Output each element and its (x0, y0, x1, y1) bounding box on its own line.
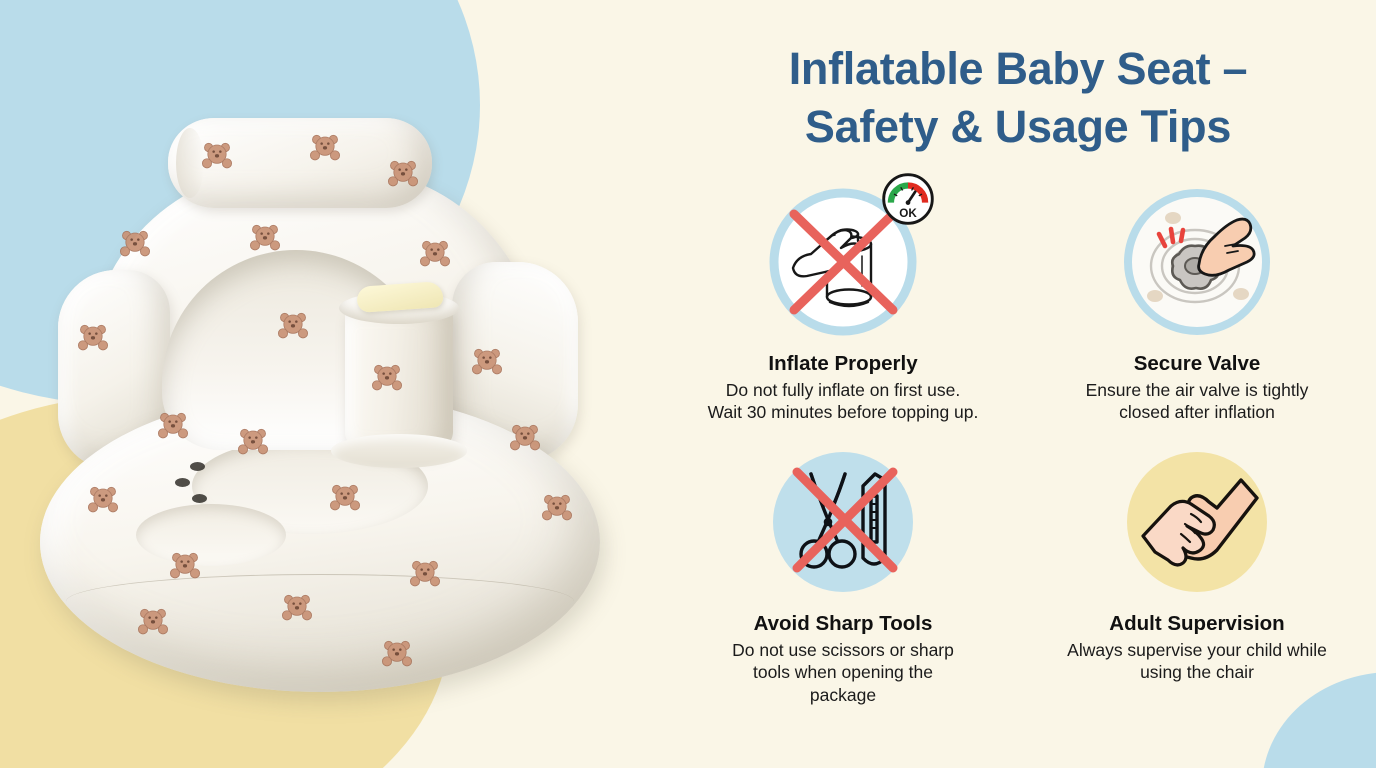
tip-card-adult-supervision: Adult Supervision Always supervise your … (1024, 446, 1370, 706)
page-title: Inflatable Baby Seat – Safety & Usage Ti… (660, 40, 1376, 155)
teddy-bear-motif (276, 310, 310, 340)
teddy-bear-motif (380, 638, 414, 668)
teddy-bear-motif (508, 422, 542, 452)
tip-description-line-3: package (732, 684, 954, 706)
chair-pillar-base (331, 434, 467, 468)
tip-heading: Inflate Properly (768, 352, 917, 376)
tip-description-line-2: using the chair (1067, 661, 1327, 683)
no-scissors-cutter-icon (767, 446, 919, 598)
teddy-bear-motif (370, 362, 404, 392)
tip-card-secure-valve: Secure Valve Ensure the air valve is tig… (1024, 186, 1370, 424)
tip-description-line-2: Wait 30 minutes before topping up. (708, 401, 979, 423)
teddy-bear-motif (156, 410, 190, 440)
teddy-bear-motif (248, 222, 282, 252)
tip-heading: Adult Supervision (1109, 612, 1284, 636)
tip-description-line-1: Ensure the air valve is tightly (1086, 379, 1309, 401)
inflatable-baby-seat-illustration (40, 110, 620, 710)
tip-description-line-1: Do not use scissors or sharp (732, 639, 954, 661)
teddy-bear-motif (470, 346, 504, 376)
tip-icon-container: OK (767, 186, 919, 338)
seat-hole (175, 478, 190, 487)
tip-card-avoid-sharp-tools: Avoid Sharp Tools Do not use scissors or… (670, 446, 1016, 706)
teddy-bear-motif (236, 426, 270, 456)
tip-description: Ensure the air valve is tightly closed a… (1086, 379, 1309, 424)
teddy-bear-motif (76, 322, 110, 352)
infographic-canvas: Inflatable Baby Seat – Safety & Usage Ti… (0, 0, 1376, 768)
tip-icon-container (1121, 186, 1273, 338)
teddy-bear-motif (386, 158, 420, 188)
tip-description: Do not use scissors or sharp tools when … (732, 639, 954, 706)
tip-description: Always supervise your child while using … (1067, 639, 1327, 684)
adult-child-holding-hands-icon (1121, 446, 1273, 598)
seat-hole (192, 494, 207, 503)
gauge-badge-label: OK (899, 207, 917, 220)
product-photo (0, 0, 660, 768)
teddy-bear-motif (540, 492, 574, 522)
content-column: Inflatable Baby Seat – Safety & Usage Ti… (660, 0, 1376, 768)
chair-seat-dip-front (136, 504, 286, 566)
tip-description-line-1: Do not fully inflate on first use. (708, 379, 979, 401)
finger-pressing-valve-icon (1121, 186, 1273, 338)
tip-heading: Avoid Sharp Tools (754, 612, 933, 636)
tip-description: Do not fully inflate on first use. Wait … (708, 379, 979, 424)
tip-heading: Secure Valve (1134, 352, 1261, 376)
teddy-bear-motif (168, 550, 202, 580)
teddy-bear-motif (118, 228, 152, 258)
teddy-bear-motif (328, 482, 362, 512)
tip-card-inflate-properly: OK Inflate Properly Do not fully inflate… (670, 186, 1016, 424)
tip-description-line-1: Always supervise your child while (1067, 639, 1327, 661)
tip-description-line-2: closed after inflation (1086, 401, 1309, 423)
teddy-bear-motif (200, 140, 234, 170)
tip-icon-container (767, 446, 919, 598)
safety-tips-grid: OK Inflate Properly Do not fully inflate… (670, 186, 1370, 706)
tip-description-line-2: tools when opening the (732, 661, 954, 683)
teddy-bear-motif (86, 484, 120, 514)
teddy-bear-motif (280, 592, 314, 622)
pressure-gauge-ok-badge: OK (881, 172, 935, 226)
page-title-line-2: Safety & Usage Tips (660, 98, 1376, 156)
teddy-bear-motif (418, 238, 452, 268)
page-title-line-1: Inflatable Baby Seat – (660, 40, 1376, 98)
seat-hole (190, 462, 205, 471)
teddy-bear-motif (408, 558, 442, 588)
tip-icon-container (1121, 446, 1273, 598)
teddy-bear-motif (308, 132, 342, 162)
teddy-bear-motif (136, 606, 170, 636)
